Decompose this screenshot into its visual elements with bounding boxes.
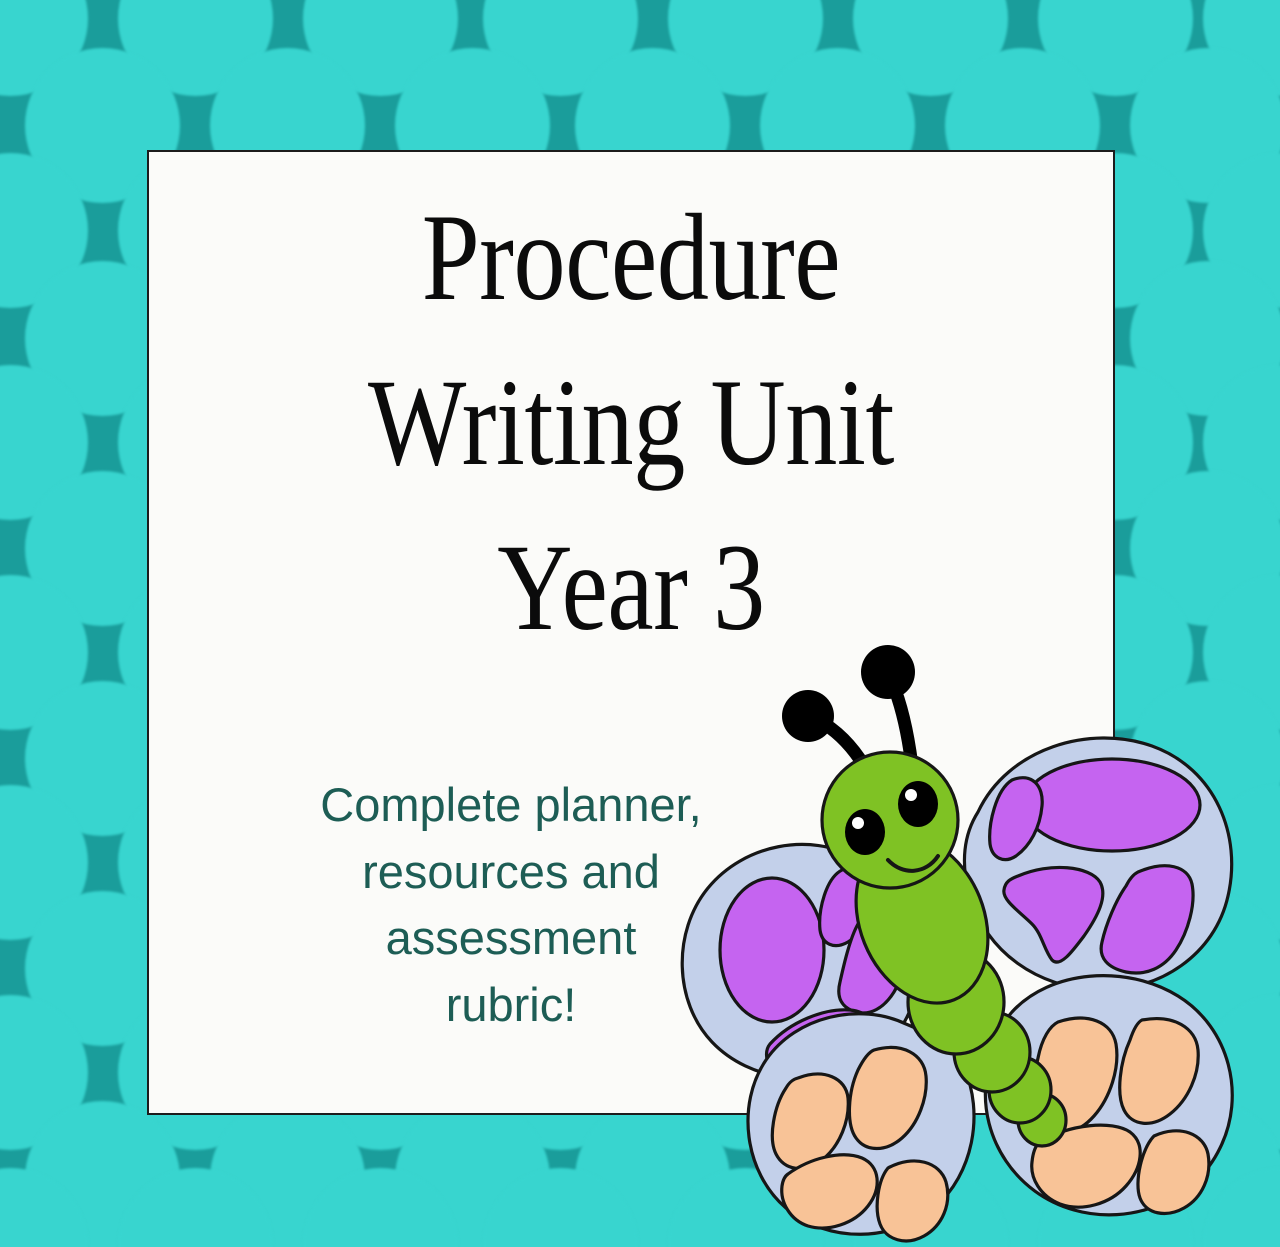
- eye-left-icon: [845, 809, 885, 855]
- eye-right-highlight-icon: [905, 789, 917, 801]
- eye-right-icon: [898, 781, 938, 827]
- eye-left-highlight-icon: [852, 817, 864, 829]
- wing-upper-right: [964, 738, 1231, 990]
- page-title: Procedure Writing Unit Year 3: [226, 176, 1036, 671]
- antenna-right-ball-icon: [861, 645, 915, 699]
- title-line-2: Writing Unit: [226, 341, 1036, 506]
- wing-cell: [720, 878, 824, 1022]
- wing-cell: [1138, 1131, 1209, 1214]
- antenna-left-ball-icon: [782, 690, 834, 742]
- wing-cell: [1024, 759, 1200, 851]
- title-line-1: Procedure: [226, 176, 1036, 341]
- wing-cell: [877, 1161, 948, 1241]
- poster-canvas: Procedure Writing Unit Year 3 Complete p…: [0, 0, 1280, 1247]
- butterfly-illustration: [660, 620, 1260, 1230]
- butterfly-head: [822, 752, 958, 888]
- head-shape: [822, 752, 958, 888]
